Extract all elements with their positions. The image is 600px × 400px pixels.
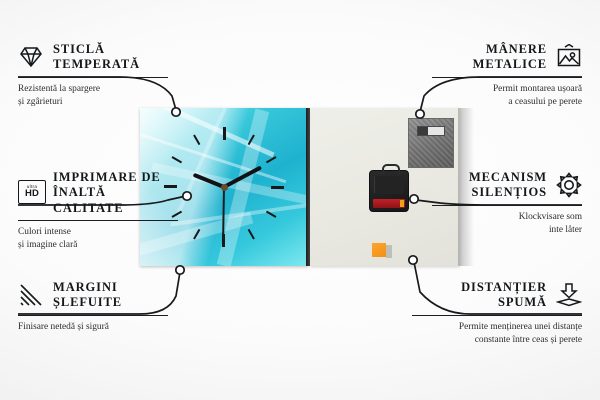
callout-rule (412, 315, 582, 317)
callout-description: Permit montarea ușoară a ceasului pe per… (432, 83, 582, 108)
callout-title: MÂNERE METALICE (473, 42, 547, 73)
callout-rule (432, 205, 582, 207)
beveled-edge-icon (18, 282, 44, 308)
callout-title: MECANISM SILENȚIOS (469, 170, 547, 201)
callout-title: IMPRIMARE DE ÎNALTĂ CALITATE (53, 170, 178, 216)
callout-title: DISTANȚIER SPUMĂ (461, 280, 547, 311)
callout-manere-metalice: MÂNERE METALICE Permit montarea ușoară a… (432, 42, 582, 108)
callout-dot-margini (176, 266, 184, 274)
callout-title: MARGINI ȘLEFUITE (53, 280, 122, 311)
callout-rule (432, 77, 582, 79)
callout-mecanism-silentios: MECANISM SILENȚIOS (432, 170, 582, 236)
callout-description: Finisare netedă și sigură (18, 321, 168, 333)
ultra-hd-icon-large-text: HD (25, 189, 39, 199)
callout-dot-mecanism (410, 195, 418, 203)
ultra-hd-icon: ultra HD (18, 180, 44, 206)
callout-dot-distantier (409, 256, 417, 264)
callout-distantier-spuma: DISTANȚIER SPUMĂ Permite menținerea unei… (412, 280, 582, 346)
callout-sticla-temperata: STICLĂ TEMPERATĂ Rezistentă la spargere … (18, 42, 168, 108)
callout-description: Permite menținerea unei distanțe constan… (412, 321, 582, 346)
callout-description: Klockvisare som inte låter (432, 211, 582, 236)
callout-margini-slefuite: MARGINI ȘLEFUITE Finisare netedă și sigu… (18, 280, 168, 334)
callout-title: STICLĂ TEMPERATĂ (53, 42, 140, 73)
callout-rule (18, 220, 178, 222)
callout-imprimare-calitate: ultra HD IMPRIMARE DE ÎNALTĂ CALITATE Cu… (18, 170, 178, 251)
callout-description: Rezistentă la spargere și zgârieturi (18, 83, 168, 108)
diamond-icon (18, 44, 44, 70)
callout-dot-imprimare (183, 192, 191, 200)
callout-description: Culori intense și imagine clară (18, 226, 178, 251)
picture-hanger-icon (556, 44, 582, 70)
infographic-canvas: STICLĂ TEMPERATĂ Rezistentă la spargere … (0, 0, 600, 400)
gear-icon (556, 172, 582, 198)
foam-spacer-icon (556, 282, 582, 308)
callout-rule (18, 77, 168, 79)
callout-rule (18, 315, 168, 317)
callout-dot-sticla (172, 108, 180, 116)
callout-dot-manere (416, 110, 424, 118)
